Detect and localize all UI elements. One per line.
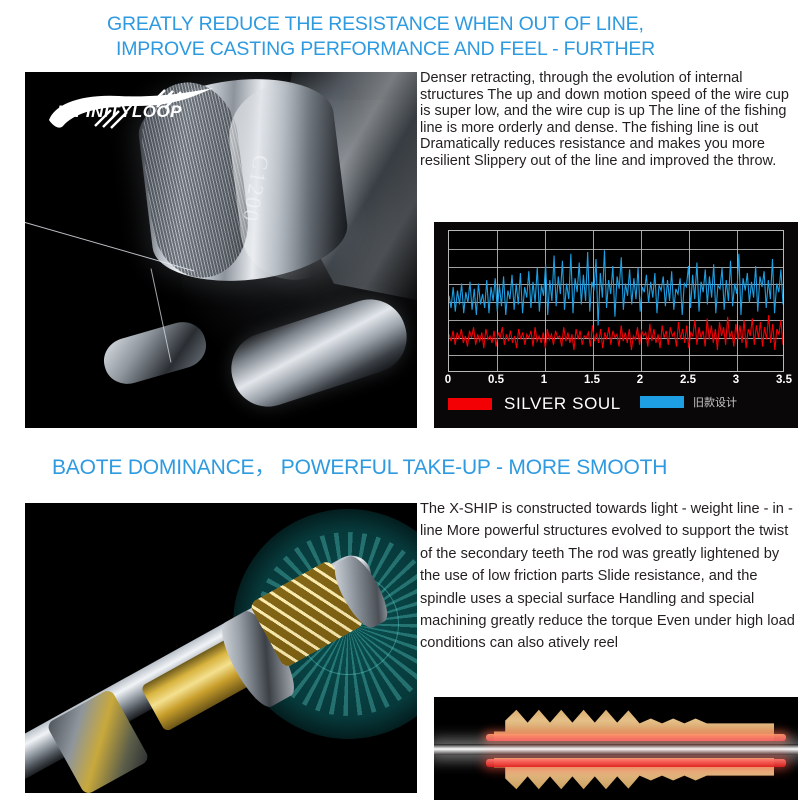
x-tick-label: 1 — [541, 374, 547, 386]
section-1-heading-line-2: IMPROVE CASTING PERFORMANCE AND FEEL - F… — [116, 37, 655, 62]
x-tick-label: 3 — [733, 374, 739, 386]
legend-swatch-blue — [640, 396, 684, 408]
vibration-comparison-chart: 00.511.522.533.5 SILVER SOUL 旧款设计 — [434, 222, 798, 428]
x-tick-label: 2 — [637, 374, 643, 386]
chart-x-axis-labels: 00.511.522.533.5 — [448, 374, 784, 390]
product-feature-page: GREATLY REDUCE THE RESISTANCE WHEN OUT O… — [0, 0, 800, 800]
x-tick-label: 0 — [445, 374, 451, 386]
legend-label-silver-soul: SILVER SOUL — [504, 394, 621, 414]
x-tick-label: 1.5 — [584, 374, 600, 386]
x-tick-label: 3.5 — [776, 374, 792, 386]
legend-label-old-design: 旧款设计 — [693, 394, 737, 410]
legend-item-silver-soul: SILVER SOUL — [448, 394, 621, 414]
section-1-heading: GREATLY REDUCE THE RESISTANCE WHEN OUT O… — [107, 12, 655, 62]
legend-swatch-red — [448, 398, 492, 410]
section-1-paragraph: Denser retracting, through the evolution… — [420, 70, 798, 170]
x-tick-label: 2.5 — [680, 374, 696, 386]
chart-plot-area — [448, 230, 784, 372]
chart-legend: SILVER SOUL 旧款设计 — [448, 394, 788, 418]
chart-series-svg — [449, 231, 783, 371]
glow-line-red-lower — [486, 759, 786, 767]
section-2-heading: BAOTE DOMINANCE， POWERFUL TAKE-UP - MORE… — [52, 455, 667, 481]
logo-text: INFINITYLOOP — [57, 102, 182, 122]
worm-shaft-profile-diagram — [434, 697, 798, 800]
glow-line-white-center — [434, 744, 798, 755]
glow-line-red-upper — [486, 734, 786, 741]
legend-item-old-design: 旧款设计 — [640, 394, 737, 410]
worm-gear-shaft-cutaway-photo — [25, 503, 417, 793]
section-2-paragraph: The X-SHIP is constructed towards light … — [420, 498, 796, 655]
infinityloop-logo: INFINITYLOOP — [41, 86, 227, 140]
section-1-heading-line-1: GREATLY REDUCE THE RESISTANCE WHEN OUT O… — [107, 13, 644, 35]
spinning-reel-spool-photo: C1200 INFINITYLOOP — [25, 72, 417, 428]
x-tick-label: 0.5 — [488, 374, 504, 386]
